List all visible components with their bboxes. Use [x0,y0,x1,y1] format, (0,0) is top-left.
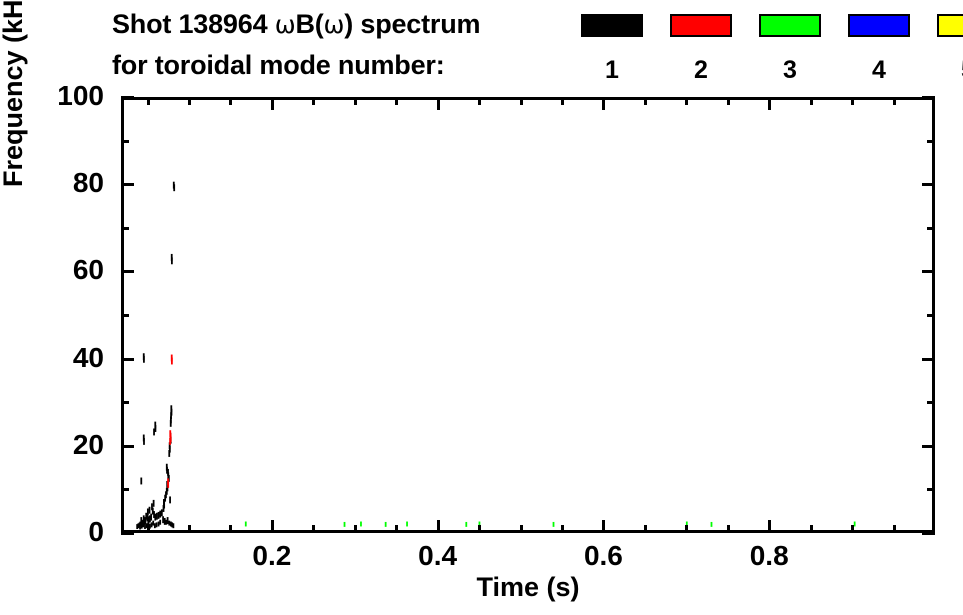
x-axis-title: Time (s) [121,572,935,603]
x-tick-minor-top-0.70 [685,97,688,105]
data-mark [172,523,174,528]
data-mark [164,518,166,525]
y-tick-minor-30 [121,401,129,404]
data-mark [169,438,171,445]
x-tick-major-0.2 [271,520,274,533]
x-tick-minor-0.55 [561,525,564,533]
data-mark [245,522,247,527]
data-mark [163,505,165,512]
data-mark [153,500,155,507]
x-tick-minor-0.75 [727,525,730,533]
data-mark [143,438,145,445]
y-tick-major-right-40 [922,358,935,361]
x-tick-label-0.4: 0.4 [388,542,488,570]
series-1 [136,182,175,530]
x-tick-minor-top-0.65 [644,97,647,105]
legend-swatch-5 [937,14,963,37]
y-axis-title: Frequency (kHz) [0,0,28,187]
data-mark [170,420,172,427]
x-tick-major-top-0.2 [271,97,274,110]
data-mark [168,521,170,526]
x-tick-minor-top-0.25 [312,97,315,105]
data-mark [169,496,171,503]
x-tick-major-top-0.4 [437,97,440,110]
data-mark [149,507,151,514]
x-tick-minor-top-0.85 [810,97,813,105]
data-mark [711,522,713,527]
x-tick-minor-0.30 [354,525,357,533]
y-tick-label-20: 20 [0,431,104,459]
data-mark [385,522,387,527]
data-mark [406,522,408,527]
x-tick-minor-0.85 [810,525,813,533]
data-plot-canvas [124,100,932,530]
data-mark [156,522,158,527]
data-mark [147,508,149,515]
data-mark [143,356,145,363]
series-3 [245,522,856,527]
data-mark [168,450,170,457]
x-tick-minor-0.35 [395,525,398,533]
y-tick-major-right-80 [922,183,935,186]
x-tick-minor-top-0.55 [561,97,564,105]
data-mark [161,509,163,516]
x-tick-minor-top-0.10 [188,97,191,105]
x-tick-major-top-0.8 [768,97,771,110]
data-mark [152,521,154,526]
y-tick-minor-right-30 [927,401,935,404]
data-mark [159,520,161,525]
x-tick-minor-0.10 [188,525,191,533]
legend-label-2: 2 [670,56,732,85]
legend-swatch-3 [759,14,821,37]
y-tick-major-right-20 [922,445,935,448]
x-tick-major-top-0.6 [602,97,605,110]
data-mark [171,257,173,264]
x-tick-minor-0.65 [644,525,647,533]
y-tick-major-right-100 [922,96,935,99]
y-tick-minor-right-70 [927,227,935,230]
x-tick-minor-0.45 [478,525,481,533]
x-tick-minor-0.50 [520,525,523,533]
legend-label-1: 1 [581,56,643,85]
x-tick-major-0.8 [768,520,771,533]
x-tick-label-0.6: 0.6 [553,542,653,570]
data-mark [173,184,175,191]
y-axis-title-wrapper: Frequency (kHz) [0,0,29,232]
x-tick-minor-top-0.95 [893,97,896,105]
x-tick-minor-top-0.30 [354,97,357,105]
data-mark [171,358,173,365]
x-tick-minor-0.95 [893,525,896,533]
data-mark [162,516,164,523]
y-tick-minor-90 [121,140,129,143]
y-tick-major-40 [121,358,134,361]
x-tick-minor-top-0.75 [727,97,730,105]
y-tick-minor-right-10 [927,488,935,491]
x-tick-minor-0.05 [147,525,150,533]
y-tick-major-20 [121,445,134,448]
data-mark [139,525,141,530]
data-mark [360,522,362,527]
data-mark [136,524,138,529]
x-tick-minor-top-0.45 [478,97,481,105]
data-mark [156,513,158,520]
legend-swatch-2 [670,14,732,37]
data-mark [167,517,169,524]
data-mark [153,429,155,436]
y-tick-major-0 [121,532,134,535]
data-mark [553,522,555,527]
x-tick-minor-top-0.50 [520,97,523,105]
legend-swatch-1 [581,14,643,37]
x-tick-minor-top-0.05 [147,97,150,105]
data-mark [142,522,144,527]
x-tick-minor-0.25 [312,525,315,533]
y-tick-minor-right-90 [927,140,935,143]
data-mark [344,522,346,527]
data-mark [158,512,160,519]
y-tick-major-right-0 [922,532,935,535]
data-mark [167,481,169,488]
data-mark [465,522,467,527]
x-tick-minor-top-0.90 [851,97,854,105]
plot-area [121,97,935,533]
data-mark [151,522,153,527]
legend-label-3: 3 [759,56,821,85]
y-tick-label-0: 0 [0,518,104,546]
y-tick-minor-70 [121,227,129,230]
data-mark [154,523,156,528]
figure-root: Shot 138964 ωB(ω) spectrum for toroidal … [0,0,963,615]
y-tick-label-60: 60 [0,256,104,284]
x-tick-major-0.6 [602,520,605,533]
data-mark [152,508,154,515]
x-tick-minor-0.90 [851,525,854,533]
x-tick-major-0.4 [437,520,440,533]
y-tick-minor-10 [121,488,129,491]
x-tick-minor-0.15 [229,525,232,533]
data-mark [854,522,856,527]
y-tick-major-right-60 [922,270,935,273]
data-mark [144,524,146,529]
legend-swatch-4 [848,14,910,37]
y-tick-major-100 [121,96,134,99]
x-tick-minor-top-0.15 [229,97,232,105]
data-mark [158,522,160,527]
y-tick-major-60 [121,270,134,273]
x-tick-label-0.2: 0.2 [222,542,322,570]
x-tick-minor-top-0.35 [395,97,398,105]
y-tick-minor-50 [121,314,129,317]
legend-label-5: 5 [937,56,963,85]
data-mark [140,478,142,485]
data-mark [159,511,161,518]
x-tick-label-0.8: 0.8 [719,542,819,570]
y-tick-minor-right-50 [927,314,935,317]
data-mark [141,524,143,529]
x-tick-minor-0.70 [685,525,688,533]
legend: 12345 [0,0,963,90]
y-tick-label-40: 40 [0,344,104,372]
legend-label-4: 4 [848,56,910,85]
y-tick-major-80 [121,183,134,186]
